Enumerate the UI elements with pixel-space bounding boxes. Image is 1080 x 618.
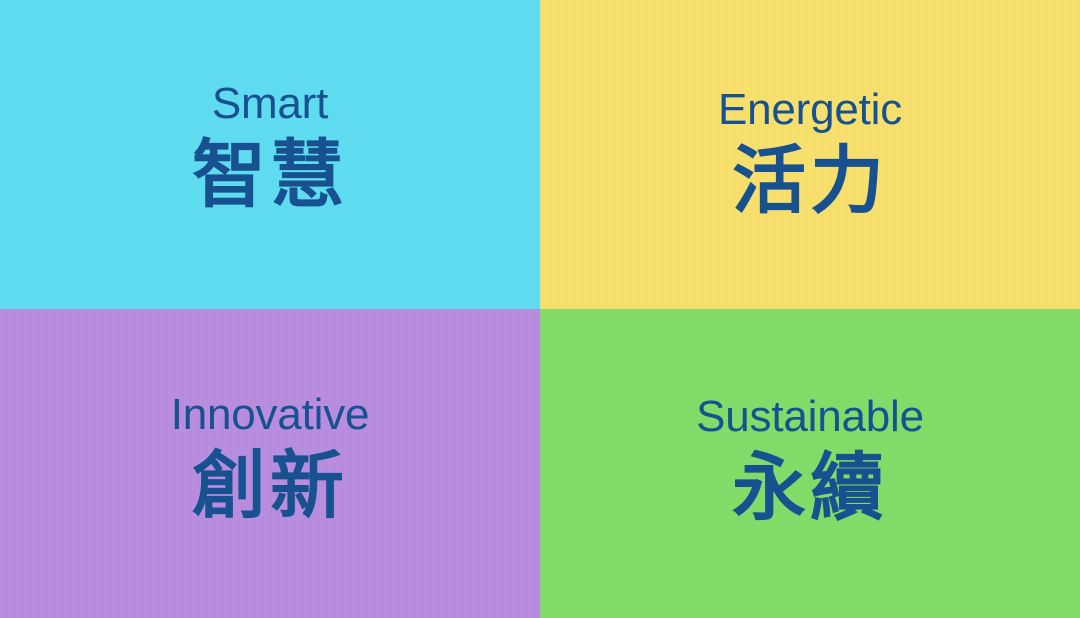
quadrant-smart: Smart 智慧 bbox=[0, 0, 540, 309]
quadrant-energetic: Energetic 活力 bbox=[540, 0, 1080, 309]
quadrant-smart-content: Smart 智慧 bbox=[192, 81, 348, 215]
quadrant-energetic-content: Energetic 活力 bbox=[718, 87, 902, 221]
quadrant-smart-label-en: Smart bbox=[212, 81, 328, 127]
quadrant-sustainable: Sustainable 永續 bbox=[540, 309, 1080, 618]
quadrant-innovative-label-en: Innovative bbox=[171, 392, 370, 438]
quadrant-innovative: Innovative 創新 bbox=[0, 309, 540, 618]
quadrant-innovative-label-zh: 創新 bbox=[192, 447, 348, 527]
quadrant-energetic-label-zh: 活力 bbox=[732, 142, 888, 222]
quadrant-energetic-label-en: Energetic bbox=[718, 87, 902, 133]
brand-values-grid: Smart 智慧 Energetic 活力 Innovative 創新 Sust… bbox=[0, 0, 1080, 618]
quadrant-innovative-content: Innovative 創新 bbox=[171, 392, 370, 526]
quadrant-sustainable-content: Sustainable 永續 bbox=[696, 394, 924, 528]
quadrant-sustainable-label-zh: 永續 bbox=[732, 449, 888, 529]
quadrant-sustainable-label-en: Sustainable bbox=[696, 394, 924, 440]
quadrant-smart-label-zh: 智慧 bbox=[192, 136, 348, 216]
